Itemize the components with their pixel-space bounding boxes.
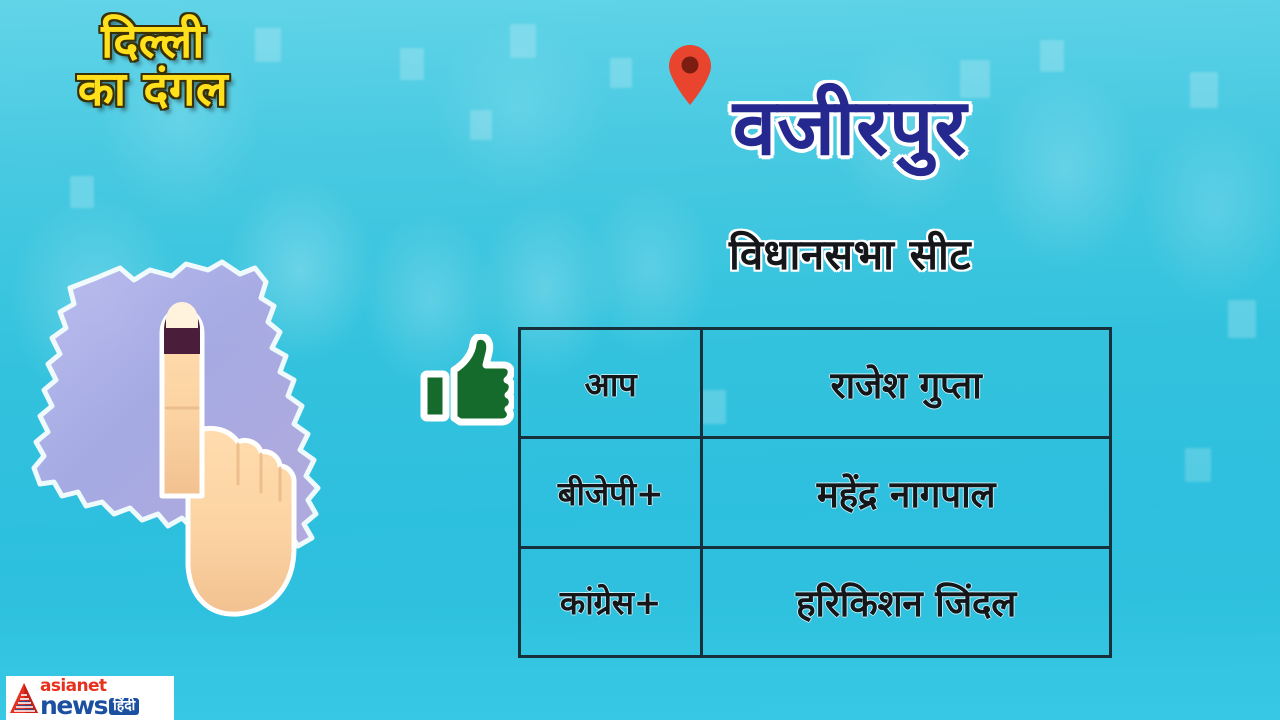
table-cell-party: कांग्रेस+: [521, 549, 703, 655]
table-row: बीजेपी+ महेंद्र नागपाल: [521, 439, 1109, 548]
asianet-triangle-icon: [9, 681, 39, 715]
asianet-news-logo: asianet news हिंदी: [6, 676, 174, 720]
logo-product-text: news: [40, 694, 107, 717]
table-cell-party: आप: [521, 330, 703, 436]
election-graphic-card: दिल्ली का दंगल: [0, 0, 1280, 720]
logo-language-badge: हिंदी: [109, 698, 139, 715]
table-cell-party: बीजेपी+: [521, 439, 703, 545]
show-title-line-1: दिल्ली: [38, 18, 268, 66]
show-title-line-2: का दंगल: [38, 66, 268, 114]
delhi-map-graphic: [22, 248, 362, 623]
table-row: कांग्रेस+ हरिकिशन जिंदल: [521, 549, 1109, 655]
table-cell-candidate: महेंद्र नागपाल: [703, 439, 1109, 545]
page-subtitle: विधानसभा सीट: [640, 232, 1060, 278]
thumbs-up-icon: [418, 334, 514, 428]
results-table: आप राजेश गुप्ता बीजेपी+ महेंद्र नागपाल क…: [518, 327, 1112, 658]
show-title: दिल्ली का दंगल: [38, 18, 268, 114]
table-cell-candidate: हरिकिशन जिंदल: [703, 549, 1109, 655]
page-title: वजीरपुर: [640, 88, 1060, 170]
table-cell-candidate: राजेश गुप्ता: [703, 330, 1109, 436]
table-row: आप राजेश गुप्ता: [521, 330, 1109, 439]
